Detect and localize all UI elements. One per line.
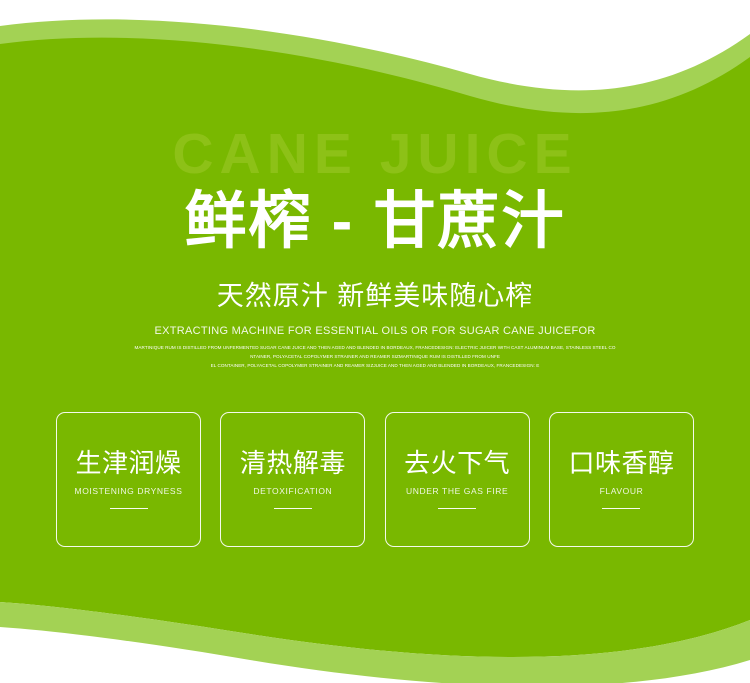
- feature-title-cn: 生津润燥: [75, 450, 181, 476]
- subtitle: 天然原汁 新鲜美味随心榨: [0, 283, 750, 310]
- page-title: 鲜榨 - 甘蔗汁: [0, 191, 750, 253]
- feature-box-under-the-gas-fire[interactable]: 去火下气 UNDER THE GAS FIRE: [385, 412, 530, 547]
- feature-title-cn: 去火下气: [404, 450, 510, 476]
- feature-box-flavour[interactable]: 口味香醇 FLAVOUR: [549, 412, 694, 547]
- feature-title-en: DETOXIFICATION: [253, 487, 332, 496]
- fineprint-line-2: NTAINER, POLYACETAL COPOLYMER STRAINER A…: [75, 352, 675, 361]
- feature-divider: [110, 508, 148, 509]
- feature-title-cn: 清热解毒: [240, 450, 346, 476]
- feature-divider: [602, 508, 640, 509]
- feature-title-cn: 口味香醇: [568, 450, 674, 476]
- feature-box-group: 生津润燥 MOISTENING DRYNESS 清热解毒 DETOXIFICAT…: [56, 412, 694, 547]
- feature-title-en: UNDER THE GAS FIRE: [406, 487, 508, 496]
- feature-box-moistening-dryness[interactable]: 生津润燥 MOISTENING DRYNESS: [56, 412, 201, 547]
- english-caption: EXTRACTING MACHINE FOR ESSENTIAL OILS OR…: [0, 326, 750, 337]
- fineprint-block: MARTINIQUE RUM IS DISTILLED FROM UNFERME…: [75, 343, 675, 371]
- feature-box-detoxification[interactable]: 清热解毒 DETOXIFICATION: [220, 412, 365, 547]
- feature-divider: [274, 508, 312, 509]
- fineprint-line-3: EL CONTAINER, POLYACETAL COPOLYMER STRAI…: [75, 361, 675, 370]
- feature-title-en: MOISTENING DRYNESS: [75, 487, 183, 496]
- watermark-title: CANE JUICE: [0, 126, 750, 183]
- fineprint-line-1: MARTINIQUE RUM IS DISTILLED FROM UNFERME…: [75, 343, 675, 352]
- cane-juice-banner: CANE JUICE 鲜榨 - 甘蔗汁 天然原汁 新鲜美味随心榨 EXTRACT…: [0, 0, 750, 683]
- feature-divider: [438, 508, 476, 509]
- banner-content: CANE JUICE 鲜榨 - 甘蔗汁 天然原汁 新鲜美味随心榨 EXTRACT…: [0, 0, 750, 683]
- feature-title-en: FLAVOUR: [600, 487, 644, 496]
